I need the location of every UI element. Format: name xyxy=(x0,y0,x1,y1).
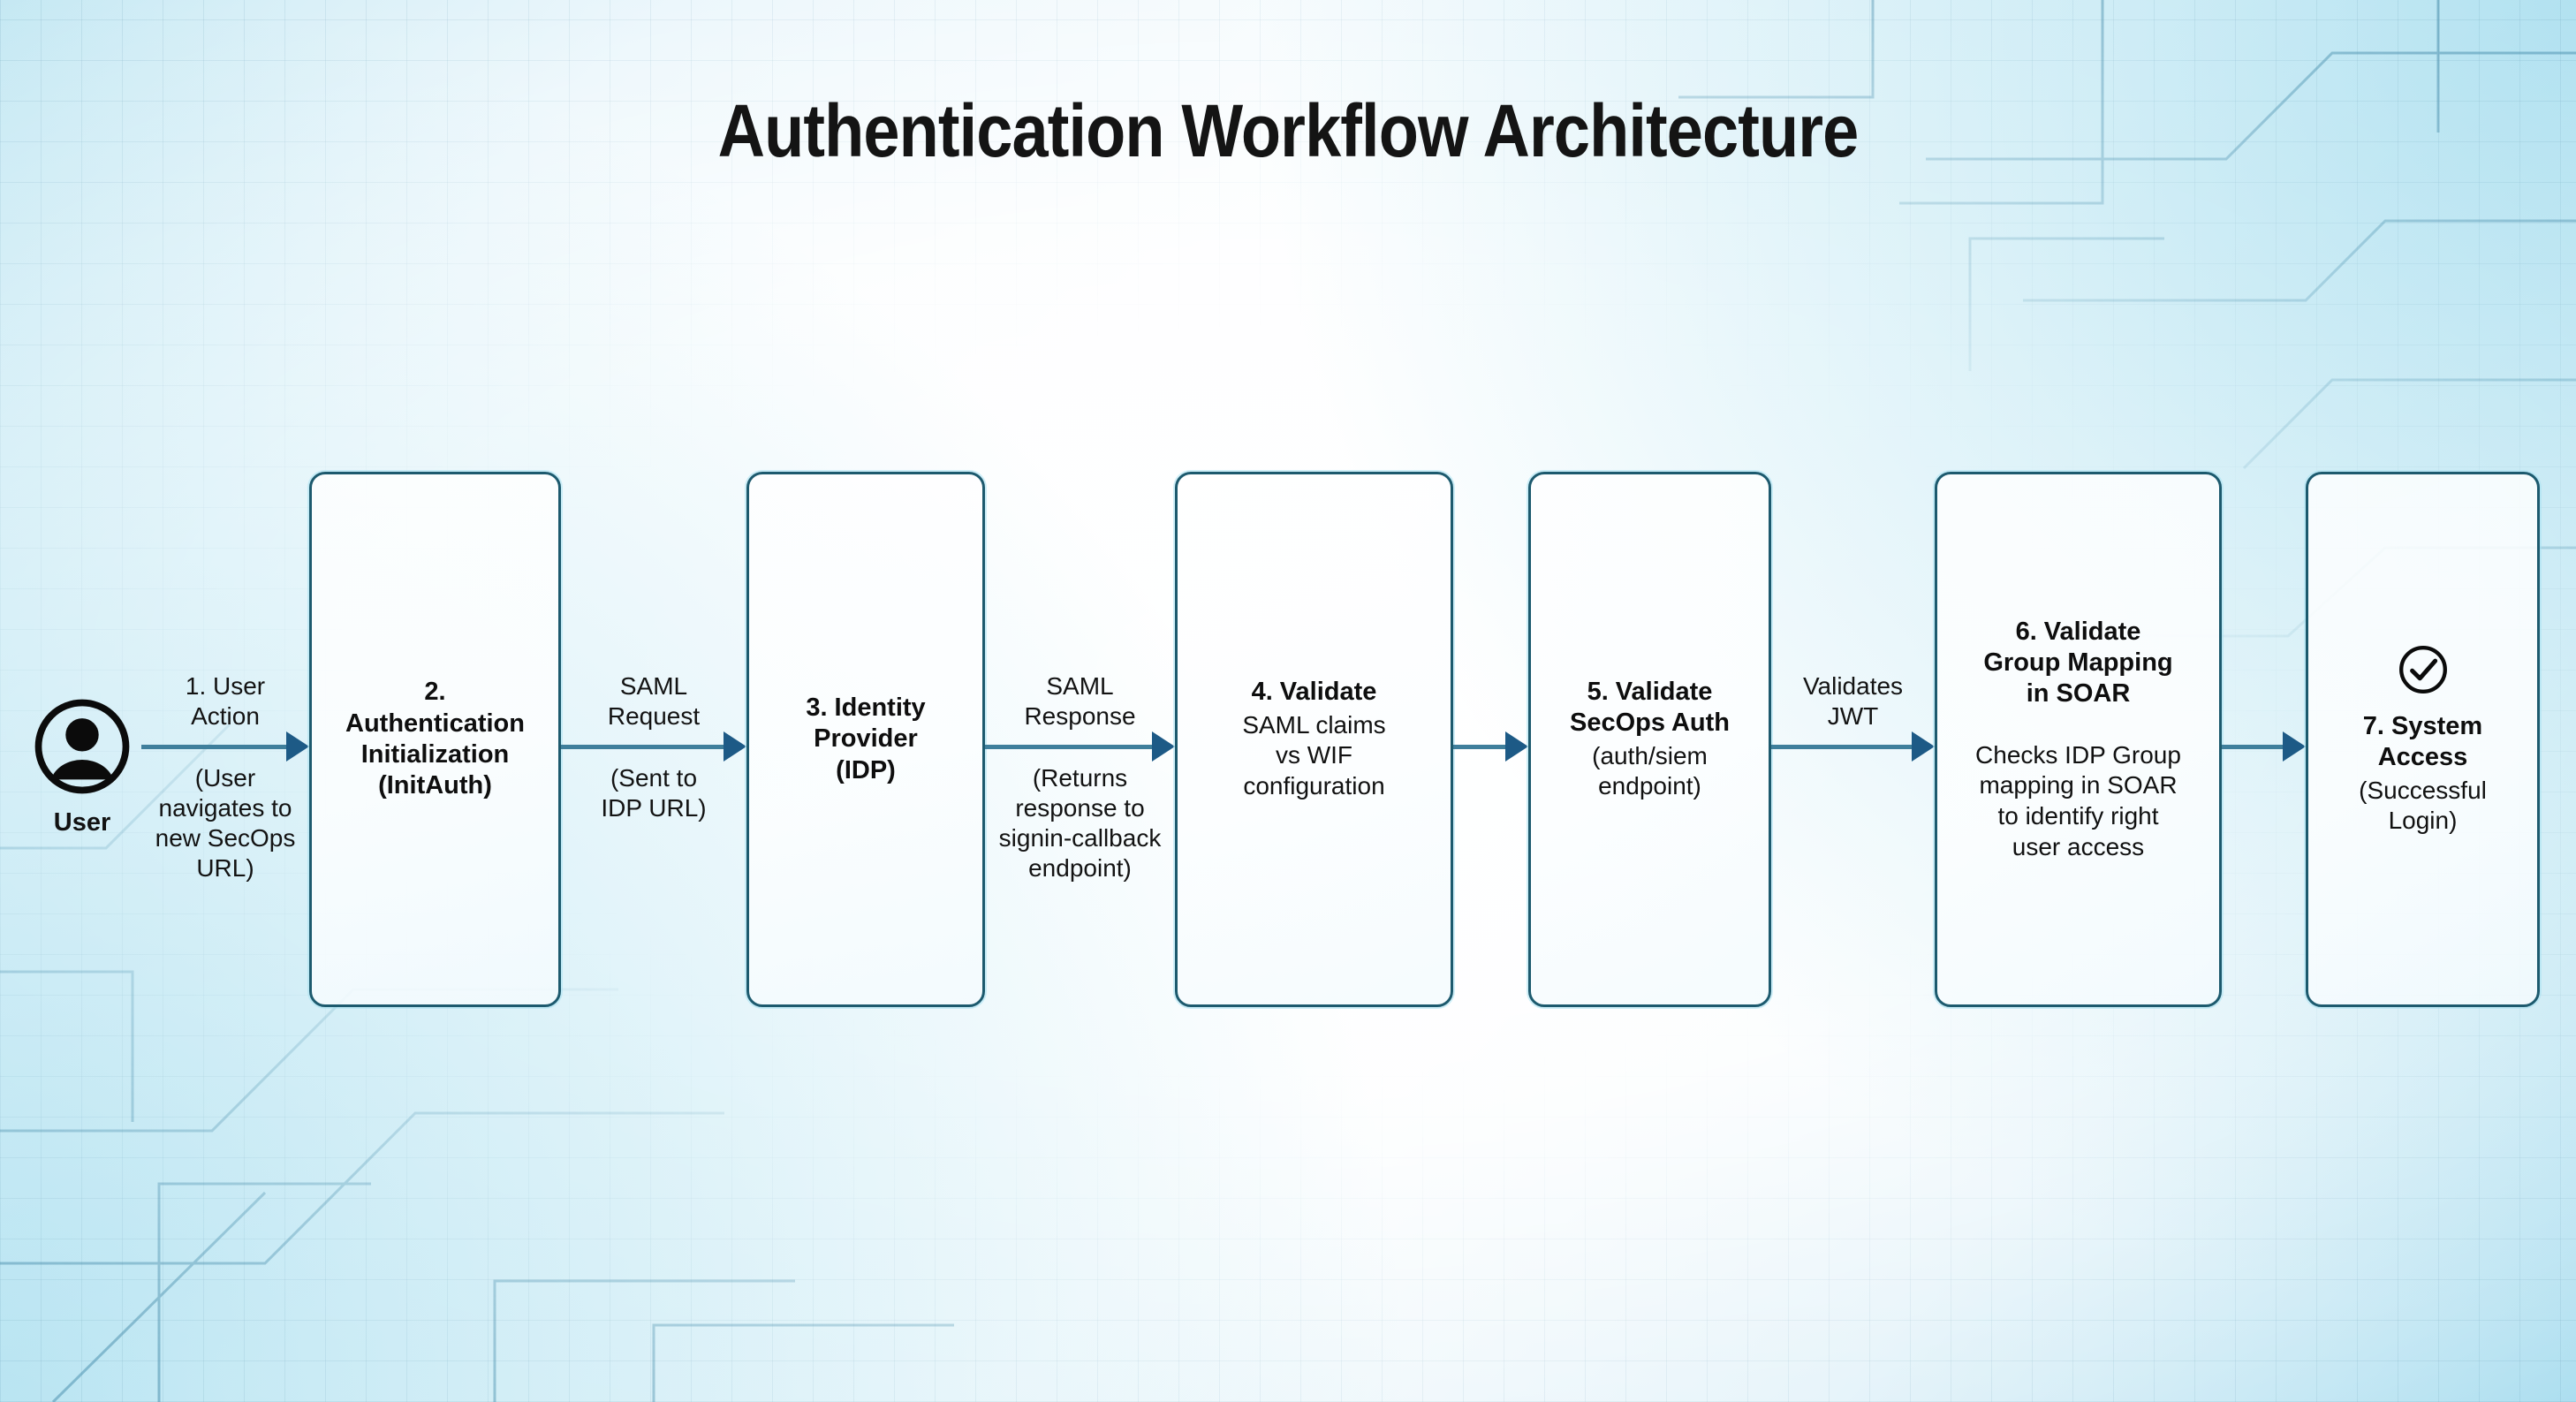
connector-initauth-to-idp: SAML Request (Sent to IDP URL) xyxy=(561,472,746,1007)
connector-label-above: 1. User Action xyxy=(141,671,309,731)
connector-idp-to-validate-saml: SAML Response (Returns response to signi… xyxy=(985,472,1175,1007)
node-title: 2. Authentication Initialization (InitAu… xyxy=(345,677,525,802)
actor-user-label: User xyxy=(54,808,111,837)
node-subtitle: Checks IDP Group mapping in SOAR to iden… xyxy=(1975,740,2181,863)
connector-label-below: (Returns response to signin-callback end… xyxy=(985,763,1175,884)
node-title: 3. Identity Provider (IDP) xyxy=(806,693,925,786)
node-subtitle: SAML claims vs WIF configuration xyxy=(1242,710,1385,802)
connector-label-above: SAML Request xyxy=(561,671,746,731)
connector-user-to-initauth: 1. User Action (User navigates to new Se… xyxy=(141,472,309,1007)
node-title: 5. Validate SecOps Auth xyxy=(1570,677,1730,739)
node-system-access[interactable]: 7. System Access (Successful Login) xyxy=(2306,472,2540,1007)
node-title: 7. System Access xyxy=(2363,711,2482,774)
node-validate-secops-auth[interactable]: 5. Validate SecOps Auth (auth/siem endpo… xyxy=(1528,472,1771,1007)
check-circle-icon xyxy=(2396,642,2451,697)
node-authentication-initialization[interactable]: 2. Authentication Initialization (InitAu… xyxy=(309,472,561,1007)
node-identity-provider[interactable]: 3. Identity Provider (IDP) xyxy=(746,472,985,1007)
actor-user: User xyxy=(25,698,140,837)
node-subtitle: (Successful Login) xyxy=(2359,776,2487,837)
node-title: 6. Validate Group Mapping in SOAR xyxy=(1983,617,2172,710)
node-subtitle: (auth/siem endpoint) xyxy=(1592,741,1708,802)
user-avatar-icon xyxy=(34,698,131,800)
diagram-canvas: Authentication Workflow Architecture Use… xyxy=(0,0,2576,1402)
page-title: Authentication Workflow Architecture xyxy=(155,88,2421,174)
node-validate-saml-claims[interactable]: 4. Validate SAML claims vs WIF configura… xyxy=(1175,472,1453,1007)
connector-label-below: (User navigates to new SecOps URL) xyxy=(141,763,309,884)
connector-soar-to-system-access xyxy=(2222,472,2306,1007)
connector-validate-saml-to-secops xyxy=(1453,472,1528,1007)
node-validate-group-mapping[interactable]: 6. Validate Group Mapping in SOAR Checks… xyxy=(1935,472,2222,1007)
connector-label-above: Validates JWT xyxy=(1771,671,1935,731)
node-title: 4. Validate xyxy=(1252,677,1377,708)
workflow-flow: User 1. User Action (User navigates to n… xyxy=(0,472,2576,1007)
connector-label-below: (Sent to IDP URL) xyxy=(561,763,746,823)
connector-secops-to-soar: Validates JWT xyxy=(1771,472,1935,1007)
connector-label-above: SAML Response xyxy=(985,671,1175,731)
